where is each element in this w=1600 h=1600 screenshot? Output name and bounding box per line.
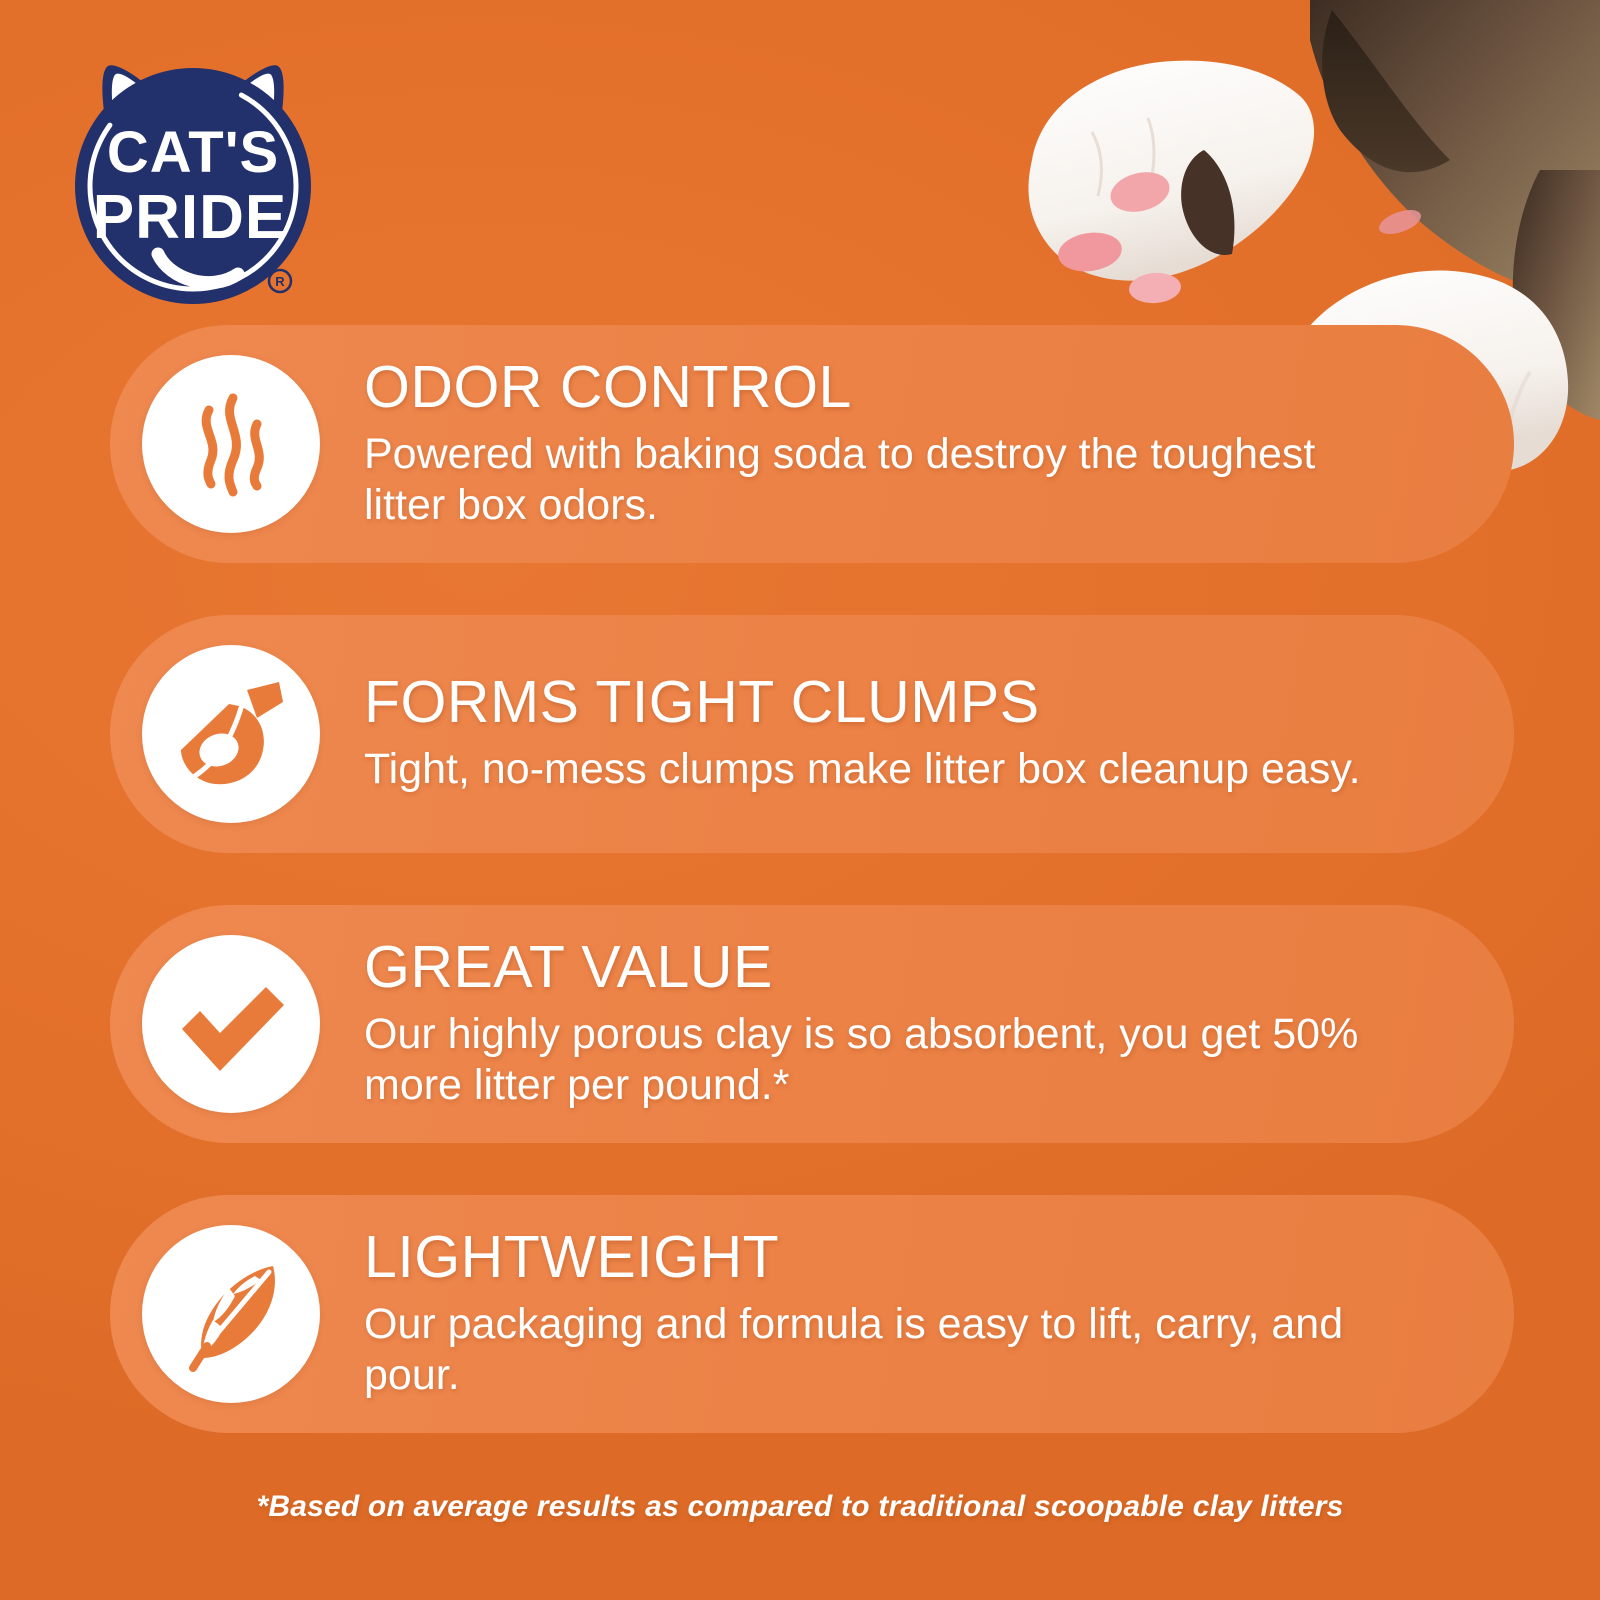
svg-text:CAT'S: CAT'S bbox=[107, 120, 279, 185]
feather-icon bbox=[142, 1225, 320, 1403]
cats-pride-logo: CAT'S PRIDE R bbox=[62, 48, 330, 310]
checkmark-icon bbox=[142, 935, 320, 1113]
feature-card-odor-control[interactable]: ODOR CONTROL Powered with baking soda to… bbox=[110, 325, 1514, 563]
feature-text-block: GREAT VALUE Our highly porous clay is so… bbox=[364, 938, 1404, 1110]
feature-card-lightweight[interactable]: LIGHTWEIGHT Our packaging and formula is… bbox=[110, 1195, 1514, 1433]
feature-description: Our packaging and formula is easy to lif… bbox=[364, 1299, 1364, 1400]
feature-title: FORMS TIGHT CLUMPS bbox=[364, 673, 1361, 732]
feature-description: Our highly porous clay is so absorbent, … bbox=[364, 1009, 1364, 1110]
feature-list: ODOR CONTROL Powered with baking soda to… bbox=[110, 325, 1514, 1433]
feature-text-block: ODOR CONTROL Powered with baking soda to… bbox=[364, 358, 1404, 530]
feature-card-forms-tight-clumps[interactable]: FORMS TIGHT CLUMPS Tight, no-mess clumps… bbox=[110, 615, 1514, 853]
feature-title: ODOR CONTROL bbox=[364, 358, 1364, 417]
feature-card-great-value[interactable]: GREAT VALUE Our highly porous clay is so… bbox=[110, 905, 1514, 1143]
poster-canvas: CAT'S PRIDE R bbox=[0, 0, 1600, 1600]
odor-waves-icon bbox=[142, 355, 320, 533]
feature-title: GREAT VALUE bbox=[364, 938, 1364, 997]
footnote-disclaimer: *Based on average results as compared to… bbox=[0, 1490, 1600, 1524]
feature-title: LIGHTWEIGHT bbox=[364, 1228, 1364, 1287]
svg-text:R: R bbox=[275, 274, 285, 289]
feature-description: Tight, no-mess clumps make litter box cl… bbox=[364, 744, 1361, 795]
logo-svg: CAT'S PRIDE R bbox=[62, 48, 330, 310]
feature-text-block: FORMS TIGHT CLUMPS Tight, no-mess clumps… bbox=[364, 673, 1401, 795]
feature-text-block: LIGHTWEIGHT Our packaging and formula is… bbox=[364, 1228, 1404, 1400]
feature-description: Powered with baking soda to destroy the … bbox=[364, 429, 1364, 530]
litter-scoop-icon bbox=[142, 645, 320, 823]
svg-text:PRIDE: PRIDE bbox=[93, 183, 287, 252]
